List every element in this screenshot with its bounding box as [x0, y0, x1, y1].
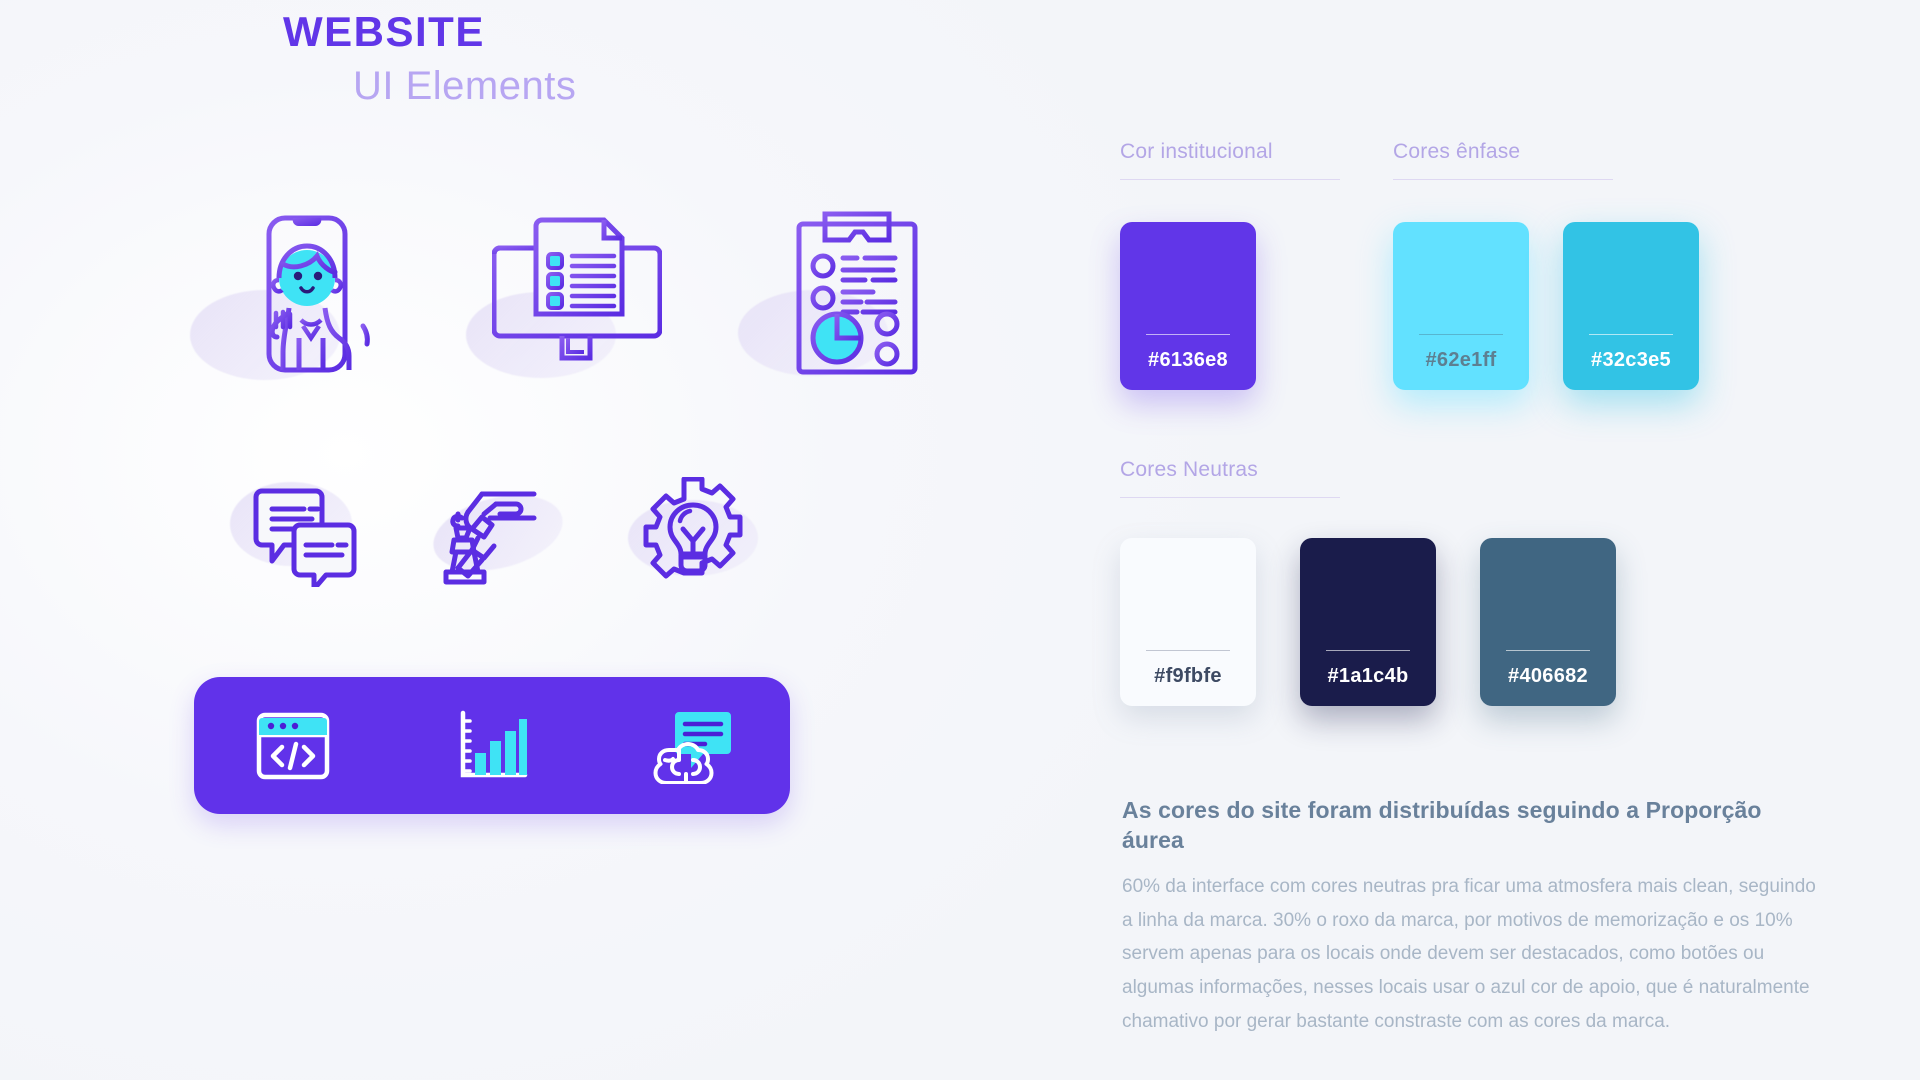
swatch-rule: [1326, 650, 1410, 652]
description-body: 60% da interface com cores neutras pra f…: [1122, 870, 1822, 1039]
swatch-rule: [1506, 650, 1590, 652]
color-swatch[interactable]: #62e1ff: [1393, 222, 1529, 390]
brain-chat-icon[interactable]: [631, 708, 751, 784]
description-block: As cores do site foram distribuídas segu…: [1122, 795, 1822, 1039]
color-swatch[interactable]: #1a1c4b: [1300, 538, 1436, 706]
description-title: As cores do site foram distribuídas segu…: [1122, 795, 1822, 856]
swatch-hex-label: #406682: [1508, 665, 1588, 688]
gear-lightbulb-icon: [638, 477, 748, 592]
left-showcase-panel: WEBSITE UI Elements: [0, 0, 1100, 1080]
swatch-hex-label: #32c3e5: [1591, 349, 1671, 372]
palette-group-label: Cores ênfase: [1393, 140, 1613, 164]
swatch-rule: [1146, 334, 1230, 336]
palette-group-institucional: Cor institucional: [1120, 140, 1340, 180]
action-bar[interactable]: [194, 677, 790, 814]
palette-group-label: Cores Neutras: [1120, 458, 1340, 482]
desktop-document-checklist-icon: [492, 212, 662, 385]
swatch-row-enfase: #62e1ff #32c3e5: [1393, 222, 1699, 390]
swatch-rule: [1146, 650, 1230, 652]
palette-group-rule: [1120, 179, 1340, 180]
palette-group-rule: [1120, 497, 1340, 498]
chat-bubbles-icon: [250, 487, 360, 592]
color-swatch[interactable]: #32c3e5: [1563, 222, 1699, 390]
title-main: WEBSITE: [283, 10, 576, 54]
swatch-rule: [1589, 334, 1673, 336]
swatch-rule: [1419, 334, 1503, 336]
palette-group-enfase: Cores ênfase: [1393, 140, 1613, 180]
code-window-icon[interactable]: [233, 711, 353, 781]
swatch-hex-label: #f9fbfe: [1154, 665, 1222, 688]
color-swatch[interactable]: #6136e8: [1120, 222, 1256, 390]
page-title: WEBSITE UI Elements: [283, 10, 576, 109]
clipboard-pie-chart-icon: [795, 210, 919, 381]
bar-chart-icon[interactable]: [432, 709, 552, 783]
swatch-hex-label: #1a1c4b: [1327, 665, 1408, 688]
color-swatch[interactable]: #406682: [1480, 538, 1616, 706]
chess-strategy-hand-icon: [438, 478, 568, 603]
palette-group-label: Cor institucional: [1120, 140, 1340, 164]
palette-group-rule: [1393, 179, 1613, 180]
right-palette-panel: Cor institucional #6136e8 Cores ênfase #…: [1120, 0, 1920, 1080]
swatch-hex-label: #62e1ff: [1425, 349, 1496, 372]
title-subtitle: UI Elements: [353, 63, 576, 109]
swatch-row-institucional: #6136e8: [1120, 222, 1256, 390]
palette-group-neutras: Cores Neutras: [1120, 458, 1340, 498]
swatch-row-neutras: #f9fbfe #1a1c4b #406682: [1120, 538, 1616, 706]
page-root: WEBSITE UI Elements: [0, 0, 1920, 1080]
selfie-video-call-icon: [243, 208, 383, 393]
swatch-hex-label: #6136e8: [1148, 349, 1228, 372]
color-swatch[interactable]: #f9fbfe: [1120, 538, 1256, 706]
